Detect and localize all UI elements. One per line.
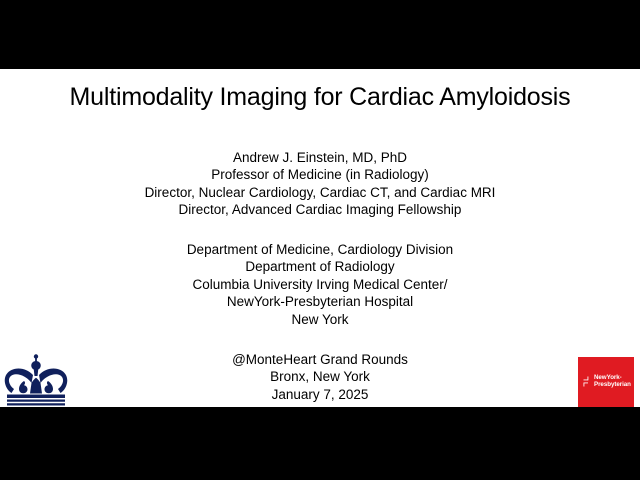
affiliation-department-radiology: Department of Radiology (0, 258, 640, 275)
event-block: @MonteHeart Grand Rounds Bronx, New York… (0, 351, 640, 403)
affiliation-block: Department of Medicine, Cardiology Divis… (0, 241, 640, 328)
newyork-presbyterian-logo: NewYork- Presbyterian (578, 357, 634, 407)
columbia-crown-icon (3, 352, 69, 406)
video-frame: Multimodality Imaging for Cardiac Amyloi… (0, 0, 640, 480)
presenter-role-director-imaging: Director, Nuclear Cardiology, Cardiac CT… (0, 184, 640, 201)
presenter-name: Andrew J. Einstein, MD, PhD (0, 149, 640, 166)
nyp-wordmark-line1: NewYork- (594, 374, 631, 381)
letterbox-bar-top (0, 0, 640, 69)
nyp-logo-lockup: NewYork- Presbyterian (583, 374, 631, 388)
presenter-role-director-fellowship: Director, Advanced Cardiac Imaging Fello… (0, 201, 640, 218)
event-date: January 7, 2025 (0, 386, 640, 403)
presenter-block: Andrew J. Einstein, MD, PhD Professor of… (0, 149, 640, 219)
affiliation-city: New York (0, 311, 640, 328)
event-location: Bronx, New York (0, 368, 640, 385)
letterbox-bar-bottom (0, 407, 640, 480)
affiliation-institution-columbia: Columbia University Irving Medical Cente… (0, 276, 640, 293)
presenter-title: Professor of Medicine (in Radiology) (0, 166, 640, 183)
affiliation-department-medicine: Department of Medicine, Cardiology Divis… (0, 241, 640, 258)
nyp-wordmark-line2: Presbyterian (594, 381, 631, 388)
affiliation-institution-nyp: NewYork-Presbyterian Hospital (0, 293, 640, 310)
event-name: @MonteHeart Grand Rounds (0, 351, 640, 368)
nyp-wordmark: NewYork- Presbyterian (594, 374, 631, 388)
nyp-bracket-icon (583, 375, 592, 388)
page-title: Multimodality Imaging for Cardiac Amyloi… (0, 82, 640, 112)
presentation-slide: Multimodality Imaging for Cardiac Amyloi… (0, 69, 640, 407)
